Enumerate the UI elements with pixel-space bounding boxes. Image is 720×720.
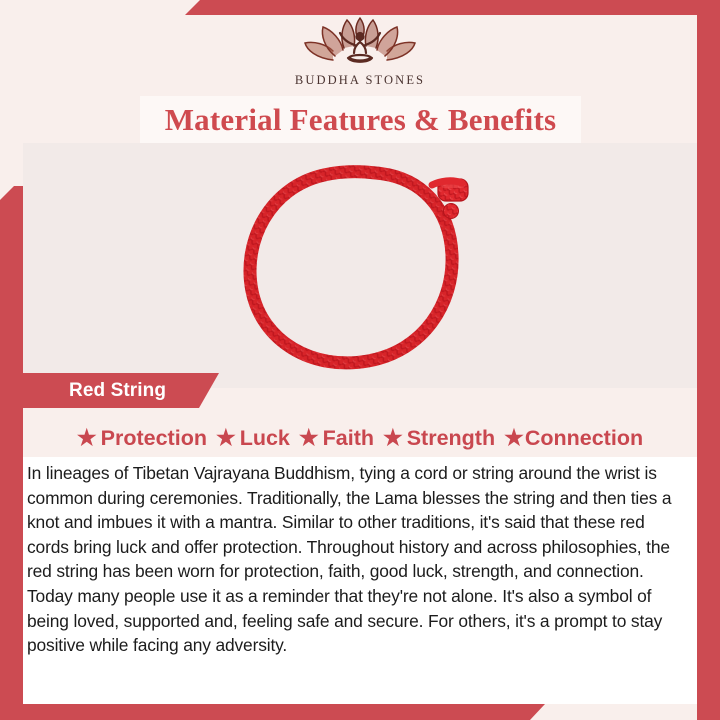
star-icon: ★ [299, 427, 319, 449]
brand-logo: BUDDHA STONES [0, 14, 720, 96]
benefit-protection: ★ Protection [77, 426, 207, 451]
benefit-label: Connection [525, 426, 643, 451]
star-icon: ★ [504, 427, 524, 449]
brand-wordmark: BUDDHA STONES [295, 73, 425, 88]
benefit-label: Luck [240, 426, 290, 451]
benefit-strength: ★ Strength [383, 426, 495, 451]
page-title: Material Features & Benefits [165, 102, 557, 138]
red-string-bracelet-image [226, 151, 494, 381]
benefit-label: Protection [101, 426, 207, 451]
benefits-row: ★ Protection ★ Luck ★ Faith ★ Strength ★… [23, 419, 697, 457]
benefit-label: Faith [323, 426, 374, 451]
star-icon: ★ [383, 427, 403, 449]
description-text: In lineages of Tibetan Vajrayana Buddhis… [27, 461, 683, 658]
title-banner: Material Features & Benefits [140, 96, 581, 143]
benefit-luck: ★ Luck [216, 426, 290, 451]
frame-bottom-band [0, 704, 720, 720]
product-image-area [23, 143, 697, 388]
product-infographic: BUDDHA STONES Material Features & Benefi… [0, 0, 720, 720]
lotus-meditation-figure-icon [302, 14, 418, 72]
star-icon: ★ [216, 427, 236, 449]
product-label: Red String [23, 380, 166, 402]
frame-right-band [697, 0, 720, 720]
benefit-connection: ★ Connection [504, 426, 643, 451]
frame-left-band [0, 186, 23, 720]
benefit-faith: ★ Faith [299, 426, 374, 451]
product-label-banner: Red String [23, 373, 219, 408]
description-panel: In lineages of Tibetan Vajrayana Buddhis… [23, 457, 697, 704]
star-icon: ★ [77, 427, 97, 449]
frame-top-band [0, 0, 720, 15]
benefit-label: Strength [407, 426, 495, 451]
